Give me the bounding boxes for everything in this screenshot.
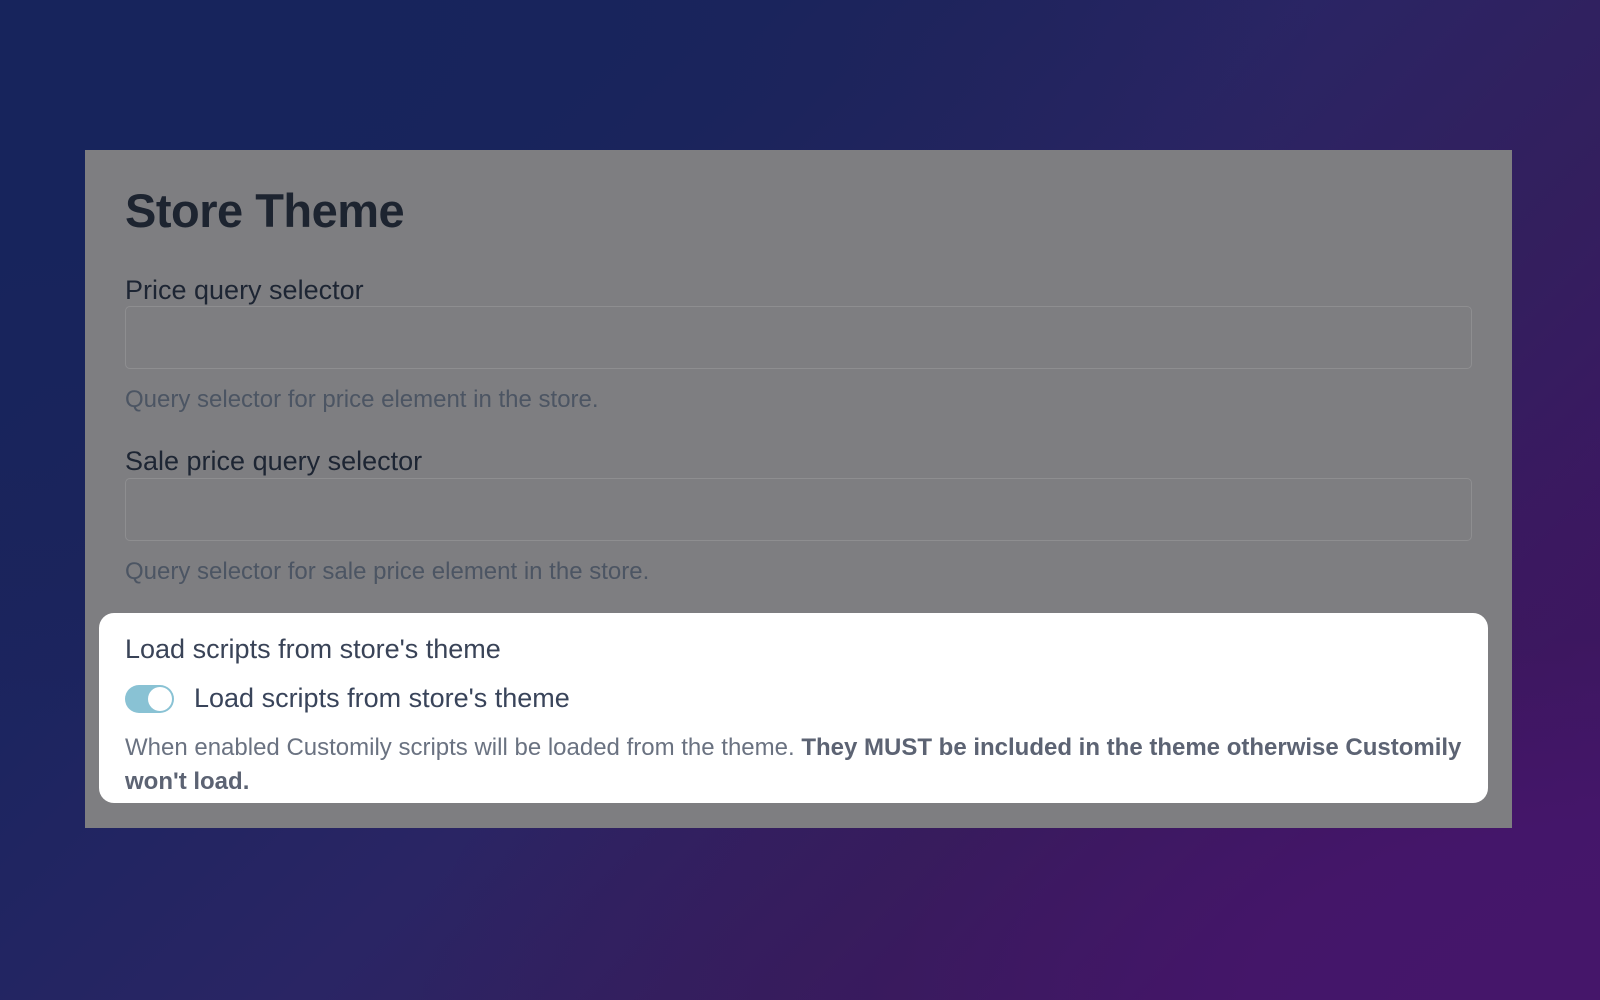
load-scripts-card-title: Load scripts from store's theme bbox=[125, 633, 1462, 665]
price-query-selector-input[interactable] bbox=[125, 306, 1472, 369]
sale-price-query-selector-label: Sale price query selector bbox=[125, 446, 422, 476]
field-group-sale-price-query-selector: Sale price query selector Query selector… bbox=[125, 445, 1472, 586]
load-scripts-toggle-row[interactable]: Load scripts from store's theme bbox=[125, 682, 1462, 714]
field-group-price-query-selector: Price query selector Query selector for … bbox=[125, 274, 1472, 415]
load-scripts-help-normal: When enabled Customily scripts will be l… bbox=[125, 734, 801, 761]
load-scripts-help-text: When enabled Customily scripts will be l… bbox=[125, 731, 1462, 799]
price-query-selector-help: Query selector for price element in the … bbox=[125, 385, 1472, 415]
load-scripts-toggle-label[interactable]: Load scripts from store's theme bbox=[194, 682, 570, 714]
sale-price-query-selector-help: Query selector for sale price element in… bbox=[125, 557, 1472, 587]
load-scripts-highlight-card: Load scripts from store's theme Load scr… bbox=[99, 613, 1488, 803]
sale-price-query-selector-input[interactable] bbox=[125, 478, 1472, 541]
toggle-knob-icon bbox=[148, 687, 172, 711]
page-title: Store Theme bbox=[125, 184, 1472, 238]
load-scripts-toggle-switch[interactable] bbox=[125, 685, 174, 713]
price-query-selector-label: Price query selector bbox=[125, 275, 364, 305]
